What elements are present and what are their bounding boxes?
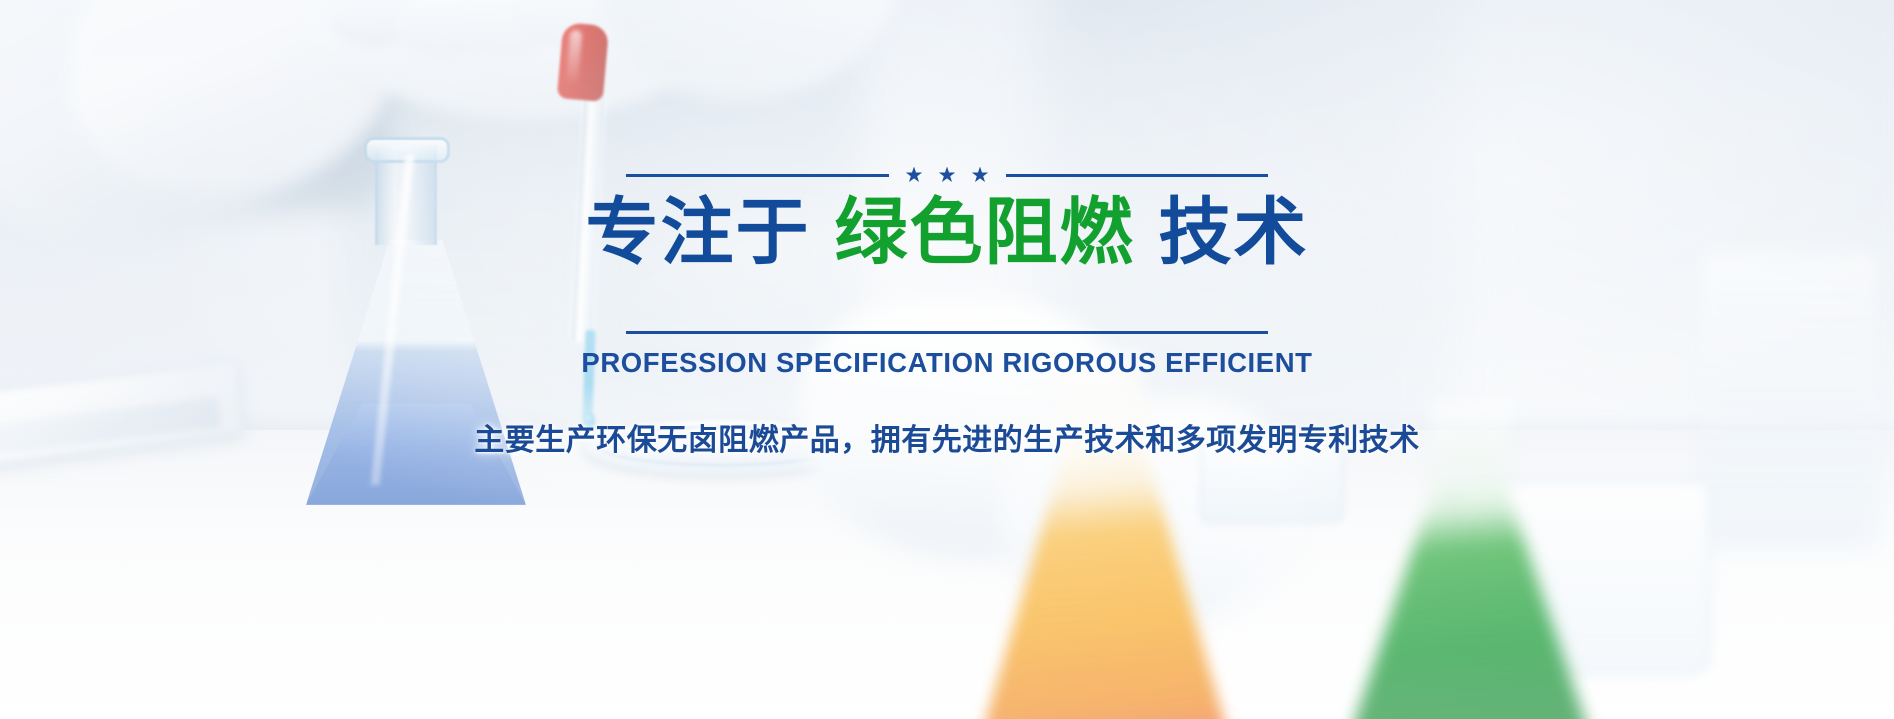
title-part-blue-2: 技术 bbox=[1159, 190, 1309, 275]
decorative-rule-row bbox=[626, 166, 1268, 184]
hero-banner: 专注于绿色阻燃技术 PROFESSION SPECIFICATION RIGOR… bbox=[0, 0, 1894, 719]
title-part-green: 绿色阻燃 bbox=[835, 190, 1135, 275]
page-title: 专注于绿色阻燃技术 bbox=[586, 196, 1309, 270]
star-icon bbox=[939, 167, 956, 184]
divider-line-right bbox=[1006, 174, 1269, 177]
star-group bbox=[906, 167, 989, 184]
banner-content: 专注于绿色阻燃技术 PROFESSION SPECIFICATION RIGOR… bbox=[0, 0, 1894, 719]
subtitle-english: PROFESSION SPECIFICATION RIGOROUS EFFICI… bbox=[581, 347, 1312, 379]
title-part-blue-1: 专注于 bbox=[586, 190, 811, 275]
description-chinese: 主要生产环保无卤阻燃产品，拥有先进的生产技术和多项发明专利技术 bbox=[474, 415, 1420, 459]
divider-line-under-title bbox=[626, 331, 1268, 334]
star-icon bbox=[906, 167, 923, 184]
star-icon bbox=[972, 167, 989, 184]
divider-line-left bbox=[626, 174, 889, 177]
